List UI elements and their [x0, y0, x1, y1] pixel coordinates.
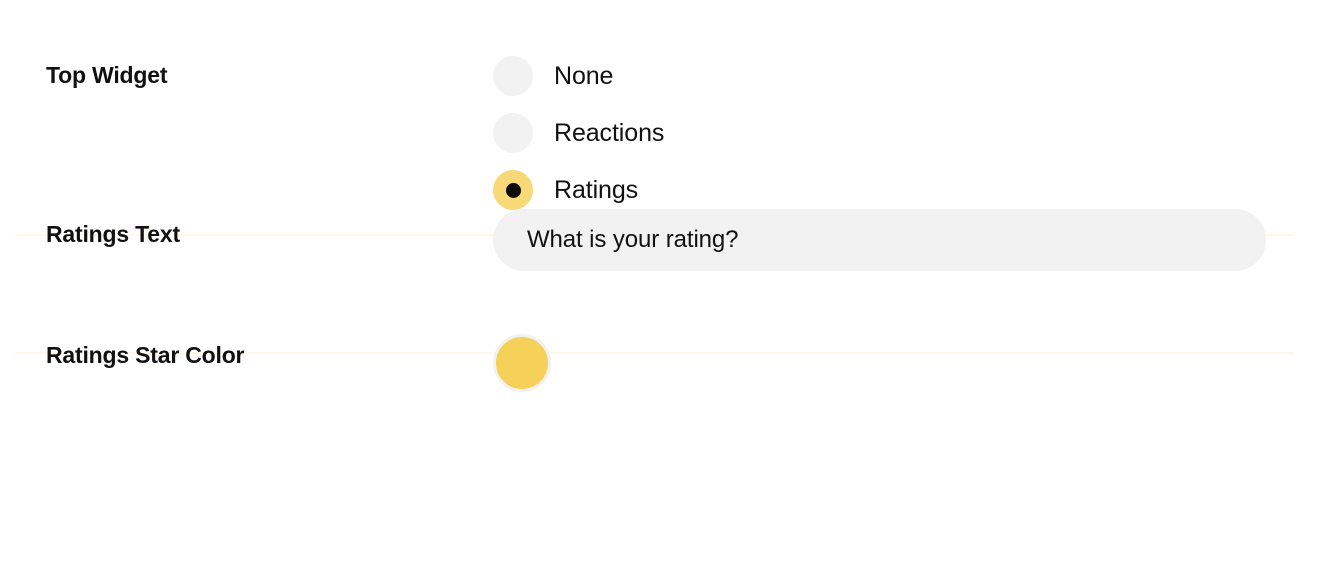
ratings-text-control	[493, 209, 1340, 271]
color-swatch-icon[interactable]	[493, 334, 551, 392]
top-widget-label: Top Widget	[46, 56, 493, 90]
setting-row-ratings-text: Ratings Text	[0, 180, 1340, 298]
radio-unchecked-icon[interactable]	[493, 113, 533, 153]
ratings-star-color-label: Ratings Star Color	[46, 334, 493, 370]
radio-option-reactions-label: Reactions	[554, 121, 664, 146]
setting-row-top-widget: Top Widget None Reactions Ratings	[0, 0, 1340, 180]
settings-panel: Top Widget None Reactions Ratings Ra	[0, 0, 1340, 564]
radio-option-reactions[interactable]: Reactions	[493, 113, 664, 153]
ratings-star-color-control	[493, 334, 1340, 392]
radio-option-none[interactable]: None	[493, 56, 613, 96]
setting-row-ratings-star-color: Ratings Star Color	[0, 298, 1340, 392]
radio-option-none-label: None	[554, 64, 613, 89]
ratings-text-label: Ratings Text	[46, 209, 493, 249]
ratings-text-input[interactable]	[493, 209, 1266, 271]
radio-unchecked-icon[interactable]	[493, 56, 533, 96]
